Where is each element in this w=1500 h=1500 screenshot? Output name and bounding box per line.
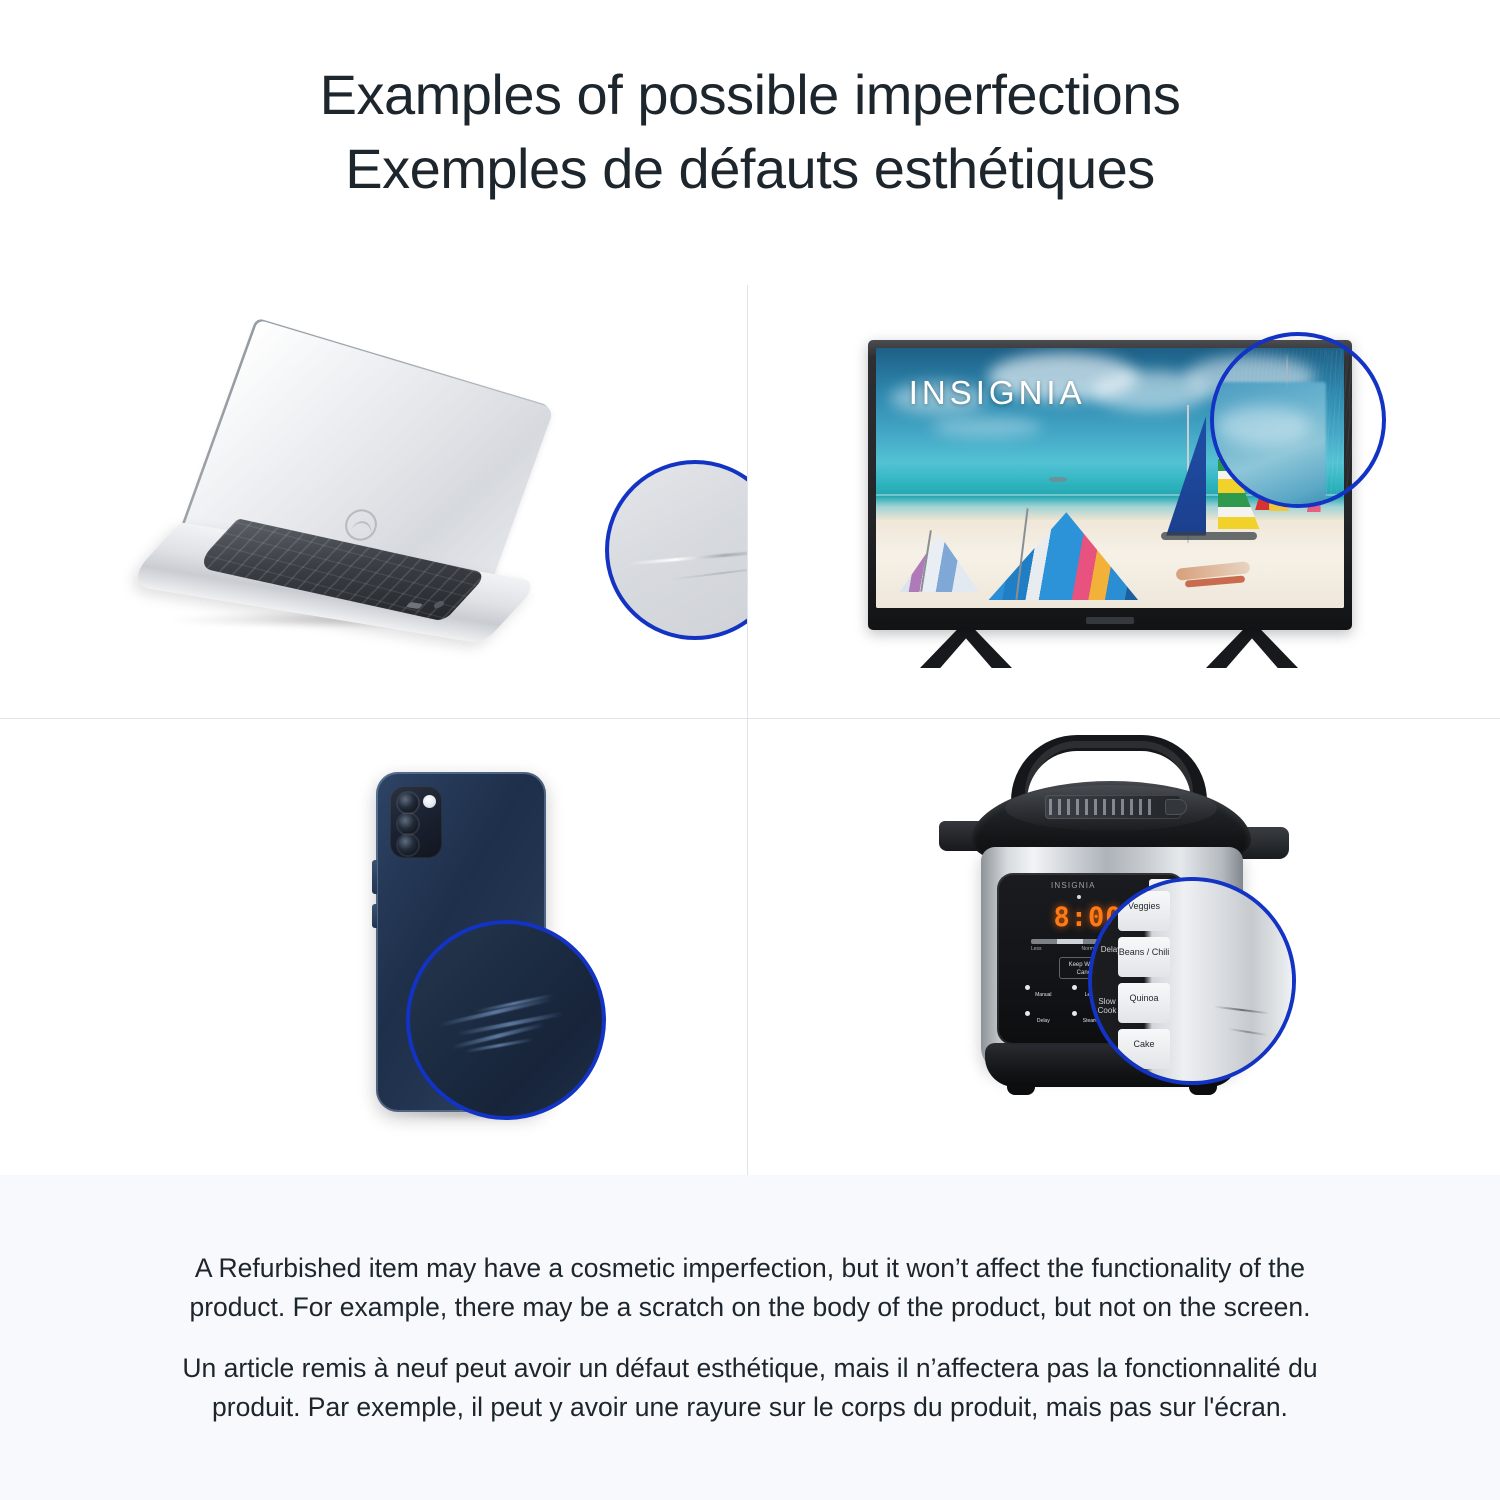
cooker-graphic: INSIGNIA 8:00 Less Normal More Keep Warm… <box>933 729 1293 1149</box>
cooker-magnifier-circle: Delay Slow Cook Veggies Beans / Chili Qu… <box>1088 877 1296 1085</box>
cooker-lid-label <box>1045 795 1181 819</box>
cooker-button-label: Quinoa <box>1118 993 1170 1003</box>
cooker-magnified-button-quinoa[interactable]: Quinoa <box>1118 983 1170 1023</box>
led-dot-icon <box>1025 985 1030 990</box>
cooker-illustration: INSIGNIA 8:00 Less Normal More Keep Warm… <box>748 719 1500 1175</box>
tile-pressure-cooker: INSIGNIA 8:00 Less Normal More Keep Warm… <box>748 719 1500 1175</box>
cooker-button-label: Cake <box>1118 1039 1170 1049</box>
cooker-button-delay[interactable]: Delay <box>1023 1011 1064 1033</box>
title-line-french: Exemples de défauts esthétiques <box>0 132 1500 206</box>
title-line-english: Examples of possible imperfections <box>0 58 1500 132</box>
camera-lens-icon <box>398 814 418 834</box>
tv-brand-logo: INSIGNIA <box>909 374 1086 412</box>
cooker-magnified-button-cake[interactable]: Cake <box>1118 1029 1170 1069</box>
pressure-label-less: Less <box>1031 946 1042 952</box>
tv-sail-blue <box>1166 416 1206 536</box>
cooker-button-label: Beans / Chili <box>1118 947 1170 957</box>
cooker-button-label: Manual <box>1023 992 1064 998</box>
phone-magnifier-circle <box>406 920 606 1120</box>
cooker-indicator-dot <box>1077 895 1081 899</box>
camera-lens-icon <box>398 793 418 813</box>
footer-paragraph-french: Un article remis à neuf peut avoir un dé… <box>180 1349 1320 1427</box>
phone-camera-module <box>390 786 442 858</box>
tv-magnifier-circle <box>1210 332 1386 508</box>
phone-power-button <box>372 904 377 928</box>
cooker-magnified-buttons: Veggies Beans / Chili Quinoa Cake <box>1118 891 1170 1075</box>
cooker-button-label: Delay <box>1023 1018 1064 1024</box>
tile-laptop <box>0 285 747 718</box>
page-title: Examples of possible imperfections Exemp… <box>0 58 1500 206</box>
tile-smartphone <box>0 719 747 1175</box>
phone-volume-button <box>372 860 377 894</box>
camera-flash-icon <box>423 795 436 808</box>
cooker-foot <box>1007 1083 1035 1095</box>
tv-chin <box>876 610 1344 626</box>
phone-illustration <box>0 719 747 1175</box>
product-examples-grid: INSIGNIA <box>0 285 1500 1175</box>
laptop-illustration <box>0 285 747 718</box>
laptop-graphic <box>150 360 550 650</box>
tv-scratch-mark <box>1286 352 1288 388</box>
led-dot-icon <box>1072 985 1077 990</box>
cooker-button-manual[interactable]: Manual <box>1023 985 1064 1007</box>
laptop-magnifier-circle <box>605 460 747 640</box>
tv-leg-left <box>920 628 1012 668</box>
tv-magnified-cloud <box>1216 406 1312 446</box>
led-dot-icon <box>1072 1011 1077 1016</box>
cooker-magnified-button-veggies[interactable]: Veggies <box>1118 891 1170 931</box>
tile-television: INSIGNIA <box>748 285 1500 718</box>
cooker-brand-logo: INSIGNIA <box>1051 881 1096 890</box>
cooker-button-label: Veggies <box>1118 901 1170 911</box>
led-dot-icon <box>1025 1011 1030 1016</box>
tv-magnified-corner <box>1326 350 1386 508</box>
footer-paragraph-english: A Refurbished item may have a cosmetic i… <box>180 1249 1320 1327</box>
cooker-magnified-button-beans-chili[interactable]: Beans / Chili <box>1118 937 1170 977</box>
tv-magnifier-content <box>1210 332 1386 508</box>
camera-lens-icon <box>398 835 418 855</box>
tv-illustration: INSIGNIA <box>748 285 1500 718</box>
phone-scuff-mark <box>439 997 553 1027</box>
laptop-scratch-mark-1 <box>627 550 747 566</box>
tv-distant-boat <box>1049 477 1067 482</box>
cooker-steam-valve <box>1165 799 1187 815</box>
tv-graphic: INSIGNIA <box>858 330 1358 685</box>
infographic-page: Examples of possible imperfections Exemp… <box>0 0 1500 1500</box>
tv-cloud <box>932 416 1042 438</box>
footer-description: A Refurbished item may have a cosmetic i… <box>0 1175 1500 1500</box>
phone-graphic <box>340 764 620 1134</box>
tv-logo-plate <box>1086 617 1134 624</box>
tv-leg-right <box>1206 628 1298 668</box>
tv-catamaran-hull <box>1161 532 1257 540</box>
laptop-scratch-mark-2 <box>671 566 747 581</box>
